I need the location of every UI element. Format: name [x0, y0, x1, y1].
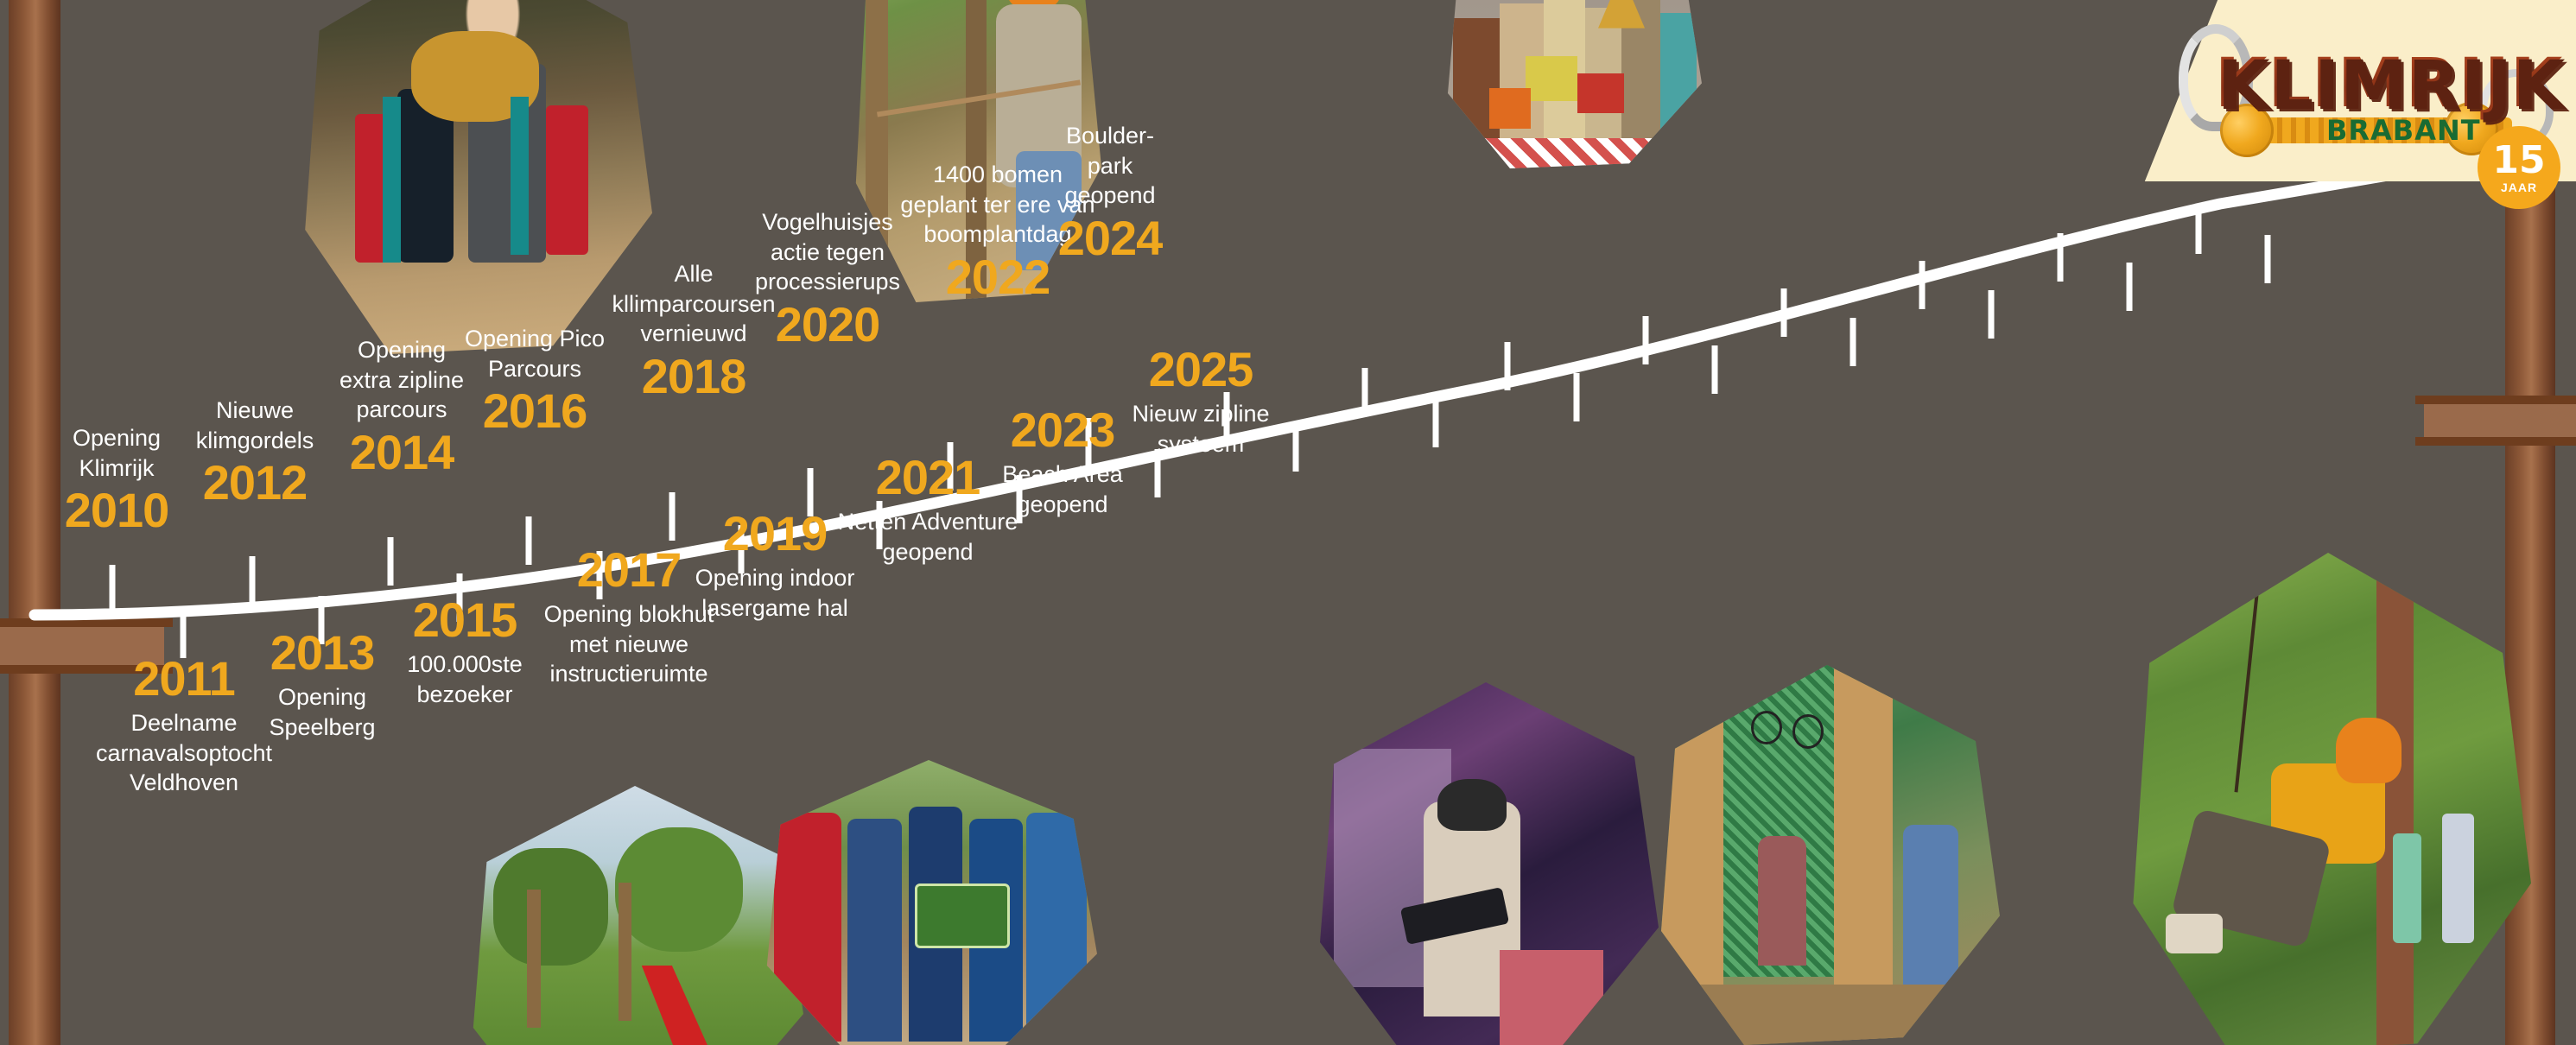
- timeline-year-2025: 2025: [1097, 345, 1304, 394]
- timeline-desc-2019: Opening indoorlasergame hal: [661, 563, 889, 623]
- timeline-year-2024: 2024: [1024, 214, 1196, 263]
- timeline-desc-2025: Nieuw ziplinesysteem: [1097, 399, 1304, 459]
- timeline-year-2018: 2018: [586, 352, 802, 401]
- photo-indoor-lasergame: [1313, 682, 1659, 1045]
- wooden-beam-right-mid: [2424, 404, 2576, 437]
- photo-netten-adventure: [1654, 665, 2000, 1045]
- wooden-beam-left-top: [0, 618, 173, 627]
- timeline-desc-2023: Beach Areageopend: [959, 459, 1166, 519]
- wooden-beam-right-top: [2415, 396, 2576, 404]
- anniversary-badge: 15 JAAR: [2478, 126, 2560, 209]
- timeline-entry-2024[interactable]: Boulder-parkgeopend 2024: [1024, 121, 1196, 263]
- timeline-infographic: OpeningKlimrijk 2010 2011 Deelnamecarnav…: [0, 0, 2576, 1045]
- photo-100000th-visitor: [760, 760, 1097, 1045]
- timeline-year-2020: 2020: [724, 301, 931, 349]
- anniversary-label: JAAR: [2501, 181, 2537, 193]
- timeline-desc-2024: Boulder-parkgeopend: [1024, 121, 1196, 211]
- wooden-beam-right-bottom: [2415, 437, 2576, 446]
- photo-zipline-rider: [2125, 553, 2531, 1045]
- logo-subtitle: BRABANT: [2326, 114, 2481, 147]
- anniversary-number: 15: [2492, 142, 2545, 180]
- timeline-entry-2025[interactable]: 2025 Nieuw ziplinesysteem: [1097, 345, 1304, 459]
- photo-birdhouses: [1443, 0, 1702, 168]
- klimrijk-logo[interactable]: KLIMRIJK BRABANT 15 JAAR: [2141, 7, 2573, 180]
- photo-speelberg-slide: [466, 786, 803, 1045]
- logo-wordmark: KLIMRIJK: [2215, 45, 2563, 123]
